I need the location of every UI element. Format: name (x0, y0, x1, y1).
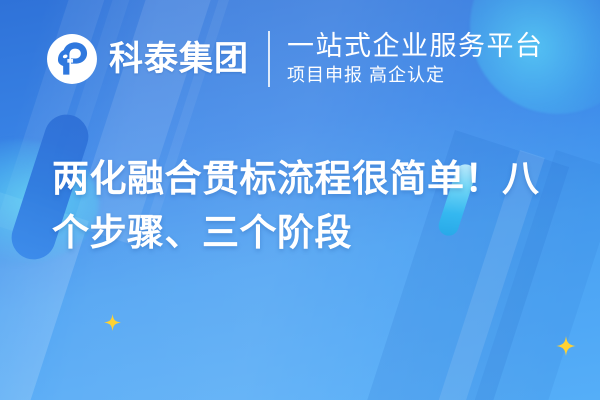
tagline-main: 一站式企业服务平台 (287, 31, 544, 61)
sparkle-icon (556, 336, 576, 356)
page-title: 两化融合贯标流程很简单！八个步骤、三个阶段 (52, 152, 552, 259)
promo-banner: 科泰集团 一站式企业服务平台 项目申报 高企认定 两化融合贯标流程很简单！八个步… (0, 0, 600, 400)
brand-name: 科泰集团 (109, 42, 249, 76)
tagline-sub: 项目申报 高企认定 (287, 64, 544, 87)
header-divider (268, 31, 270, 87)
tagline-block: 一站式企业服务平台 项目申报 高企认定 (287, 31, 544, 87)
company-logo-icon (46, 33, 98, 85)
sparkle-icon (104, 314, 121, 331)
banner-header: 科泰集团 一站式企业服务平台 项目申报 高企认定 (0, 0, 600, 118)
